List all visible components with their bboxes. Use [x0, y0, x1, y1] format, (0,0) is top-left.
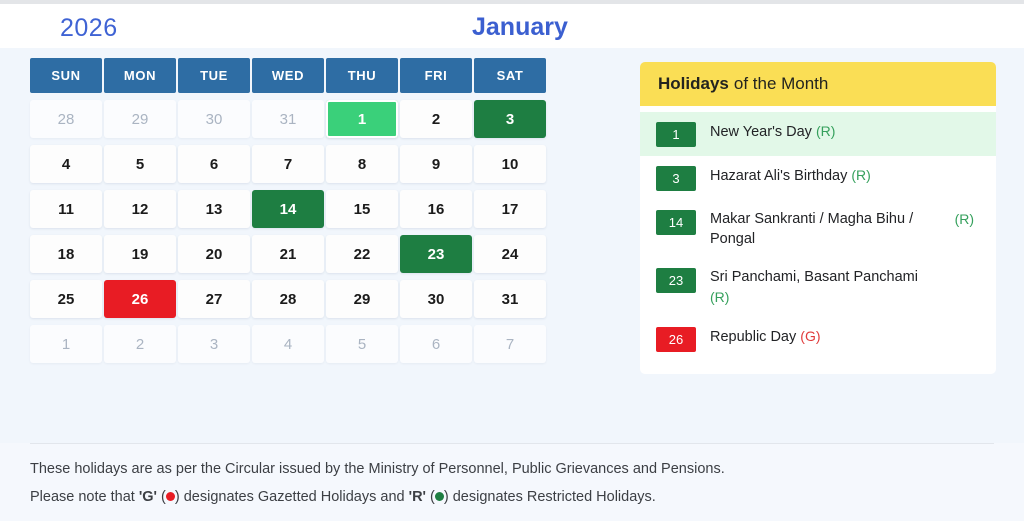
calendar-day-cell[interactable]: 28: [252, 280, 324, 318]
calendar-day-cell[interactable]: 17: [474, 190, 546, 228]
calendar-day-cell[interactable]: 15: [326, 190, 398, 228]
year-label: 2026: [60, 14, 118, 43]
footer: These holidays are as per the Circular i…: [0, 443, 1024, 521]
holidays-title-rest: of the Month: [734, 74, 829, 94]
calendar-weeks: 2829303112345678910111213141516171819202…: [30, 100, 610, 363]
footer-note-line-1: These holidays are as per the Circular i…: [30, 461, 725, 477]
calendar-day-cell[interactable]: 4: [252, 325, 324, 363]
holiday-list-item[interactable]: 26Republic Day (G): [640, 317, 996, 361]
footer-text-c: ) designates Gazetted Holidays and: [175, 489, 409, 505]
holidays-title-bold: Holidays: [658, 74, 729, 94]
calendar-day-cell[interactable]: 18: [30, 235, 102, 273]
holiday-list-item[interactable]: 1New Year's Day (R): [640, 112, 996, 156]
calendar-day-cell[interactable]: 13: [178, 190, 250, 228]
calendar-day-cell[interactable]: 12: [104, 190, 176, 228]
weekday-header-fri: FRI: [400, 58, 472, 93]
weekday-header-sun: SUN: [30, 58, 102, 93]
holiday-date-badge: 14: [656, 210, 696, 235]
calendar-day-cell[interactable]: 21: [252, 235, 324, 273]
calendar-day-cell[interactable]: 1: [326, 100, 398, 138]
calendar-day-cell[interactable]: 28: [30, 100, 102, 138]
footer-text-b: (: [157, 489, 166, 505]
calendar-day-cell[interactable]: 6: [178, 145, 250, 183]
holiday-type-tag: (R): [816, 123, 835, 139]
holiday-date-badge: 26: [656, 327, 696, 352]
gazetted-dot-icon: [166, 492, 175, 501]
weekday-header-wed: WED: [252, 58, 324, 93]
holiday-name-text: New Year's Day: [710, 124, 812, 140]
calendar-day-cell[interactable]: 30: [400, 280, 472, 318]
calendar-day-cell[interactable]: 23: [400, 235, 472, 273]
holiday-date-badge: 1: [656, 122, 696, 147]
footer-divider: [30, 443, 994, 444]
calendar-day-cell[interactable]: 31: [474, 280, 546, 318]
calendar-day-cell[interactable]: 5: [326, 325, 398, 363]
calendar-day-cell[interactable]: 6: [400, 325, 472, 363]
calendar-day-cell[interactable]: 3: [178, 325, 250, 363]
weekday-header-row: SUNMONTUEWEDTHUFRISAT: [30, 58, 610, 93]
holiday-name-text: Makar Sankranti / Magha Bihu / Pongal: [710, 211, 913, 247]
calendar-day-cell[interactable]: 30: [178, 100, 250, 138]
holidays-panel-title: Holidaysof the Month: [640, 62, 996, 106]
calendar-day-cell[interactable]: 1: [30, 325, 102, 363]
calendar-day-cell[interactable]: 3: [474, 100, 546, 138]
calendar-day-cell[interactable]: 8: [326, 145, 398, 183]
calendar-week-row: 25262728293031: [30, 280, 610, 318]
holidays-list: 1New Year's Day (R)3Hazarat Ali's Birthd…: [640, 106, 996, 374]
calendar-day-cell[interactable]: 5: [104, 145, 176, 183]
calendar-week-row: 28293031123: [30, 100, 610, 138]
holiday-date-badge: 23: [656, 268, 696, 293]
calendar-day-cell[interactable]: 29: [104, 100, 176, 138]
holiday-name-text: Hazarat Ali's Birthday: [710, 168, 847, 184]
page-body: SUNMONTUEWEDTHUFRISAT 282930311234567891…: [0, 48, 1024, 443]
calendar-day-cell[interactable]: 22: [326, 235, 398, 273]
holiday-name: Republic Day (G): [710, 326, 821, 347]
weekday-header-sat: SAT: [474, 58, 546, 93]
holiday-type-tag: (R): [851, 167, 870, 183]
calendar-day-cell[interactable]: 4: [30, 145, 102, 183]
holiday-list-item[interactable]: 3Hazarat Ali's Birthday (R): [640, 156, 996, 200]
calendar-day-cell[interactable]: 16: [400, 190, 472, 228]
weekday-header-thu: THU: [326, 58, 398, 93]
calendar-day-cell[interactable]: 19: [104, 235, 176, 273]
calendar-day-cell[interactable]: 2: [104, 325, 176, 363]
calendar-day-cell[interactable]: 14: [252, 190, 324, 228]
footer-text-e: ) designates Restricted Holidays.: [444, 489, 656, 505]
calendar-day-cell[interactable]: 7: [474, 325, 546, 363]
calendar-day-cell[interactable]: 31: [252, 100, 324, 138]
calendar-week-row: 1234567: [30, 325, 610, 363]
holiday-list-item[interactable]: 14Makar Sankranti / Magha Bihu / Pongal(…: [640, 200, 996, 258]
holiday-name: Makar Sankranti / Magha Bihu / Pongal: [710, 209, 925, 249]
calendar-day-cell[interactable]: 2: [400, 100, 472, 138]
calendar-week-row: 45678910: [30, 145, 610, 183]
holiday-date-badge: 3: [656, 166, 696, 191]
holiday-name-text: Sri Panchami, Basant Panchami: [710, 269, 918, 285]
calendar-week-row: 18192021222324: [30, 235, 610, 273]
month-label: January: [472, 13, 568, 42]
calendar-day-cell[interactable]: 26: [104, 280, 176, 318]
holidays-panel: Holidaysof the Month 1New Year's Day (R)…: [640, 62, 996, 374]
holiday-type-tag: (R): [710, 289, 729, 305]
restricted-dot-icon: [435, 492, 444, 501]
calendar-day-cell[interactable]: 20: [178, 235, 250, 273]
calendar-day-cell[interactable]: 9: [400, 145, 472, 183]
holiday-list-item[interactable]: 23Sri Panchami, Basant Panchami (R): [640, 258, 996, 317]
holiday-name-text: Republic Day: [710, 329, 796, 345]
calendar-day-cell[interactable]: 7: [252, 145, 324, 183]
holiday-name: New Year's Day (R): [710, 121, 835, 142]
footer-text-a: Please note that: [30, 489, 139, 505]
weekday-header-mon: MON: [104, 58, 176, 93]
holiday-name: Hazarat Ali's Birthday (R): [710, 165, 871, 186]
weekday-header-tue: TUE: [178, 58, 250, 93]
footer-g-label: 'G': [139, 489, 157, 505]
calendar-day-cell[interactable]: 11: [30, 190, 102, 228]
calendar-day-cell[interactable]: 10: [474, 145, 546, 183]
footer-text-d: (: [426, 489, 435, 505]
calendar-grid: SUNMONTUEWEDTHUFRISAT 282930311234567891…: [30, 58, 610, 370]
calendar-day-cell[interactable]: 24: [474, 235, 546, 273]
footer-note-line-2: Please note that 'G' () designates Gazet…: [30, 489, 656, 505]
title-bar: 2026 January: [0, 4, 1024, 48]
calendar-week-row: 11121314151617: [30, 190, 610, 228]
calendar-day-cell[interactable]: 27: [178, 280, 250, 318]
holiday-type-tag: (R): [955, 211, 974, 227]
footer-r-label: 'R': [409, 489, 426, 505]
holiday-name: Sri Panchami, Basant Panchami (R): [710, 267, 925, 308]
calendar-day-cell[interactable]: 25: [30, 280, 102, 318]
calendar-day-cell[interactable]: 29: [326, 280, 398, 318]
holiday-type-tag: (G): [800, 328, 820, 344]
